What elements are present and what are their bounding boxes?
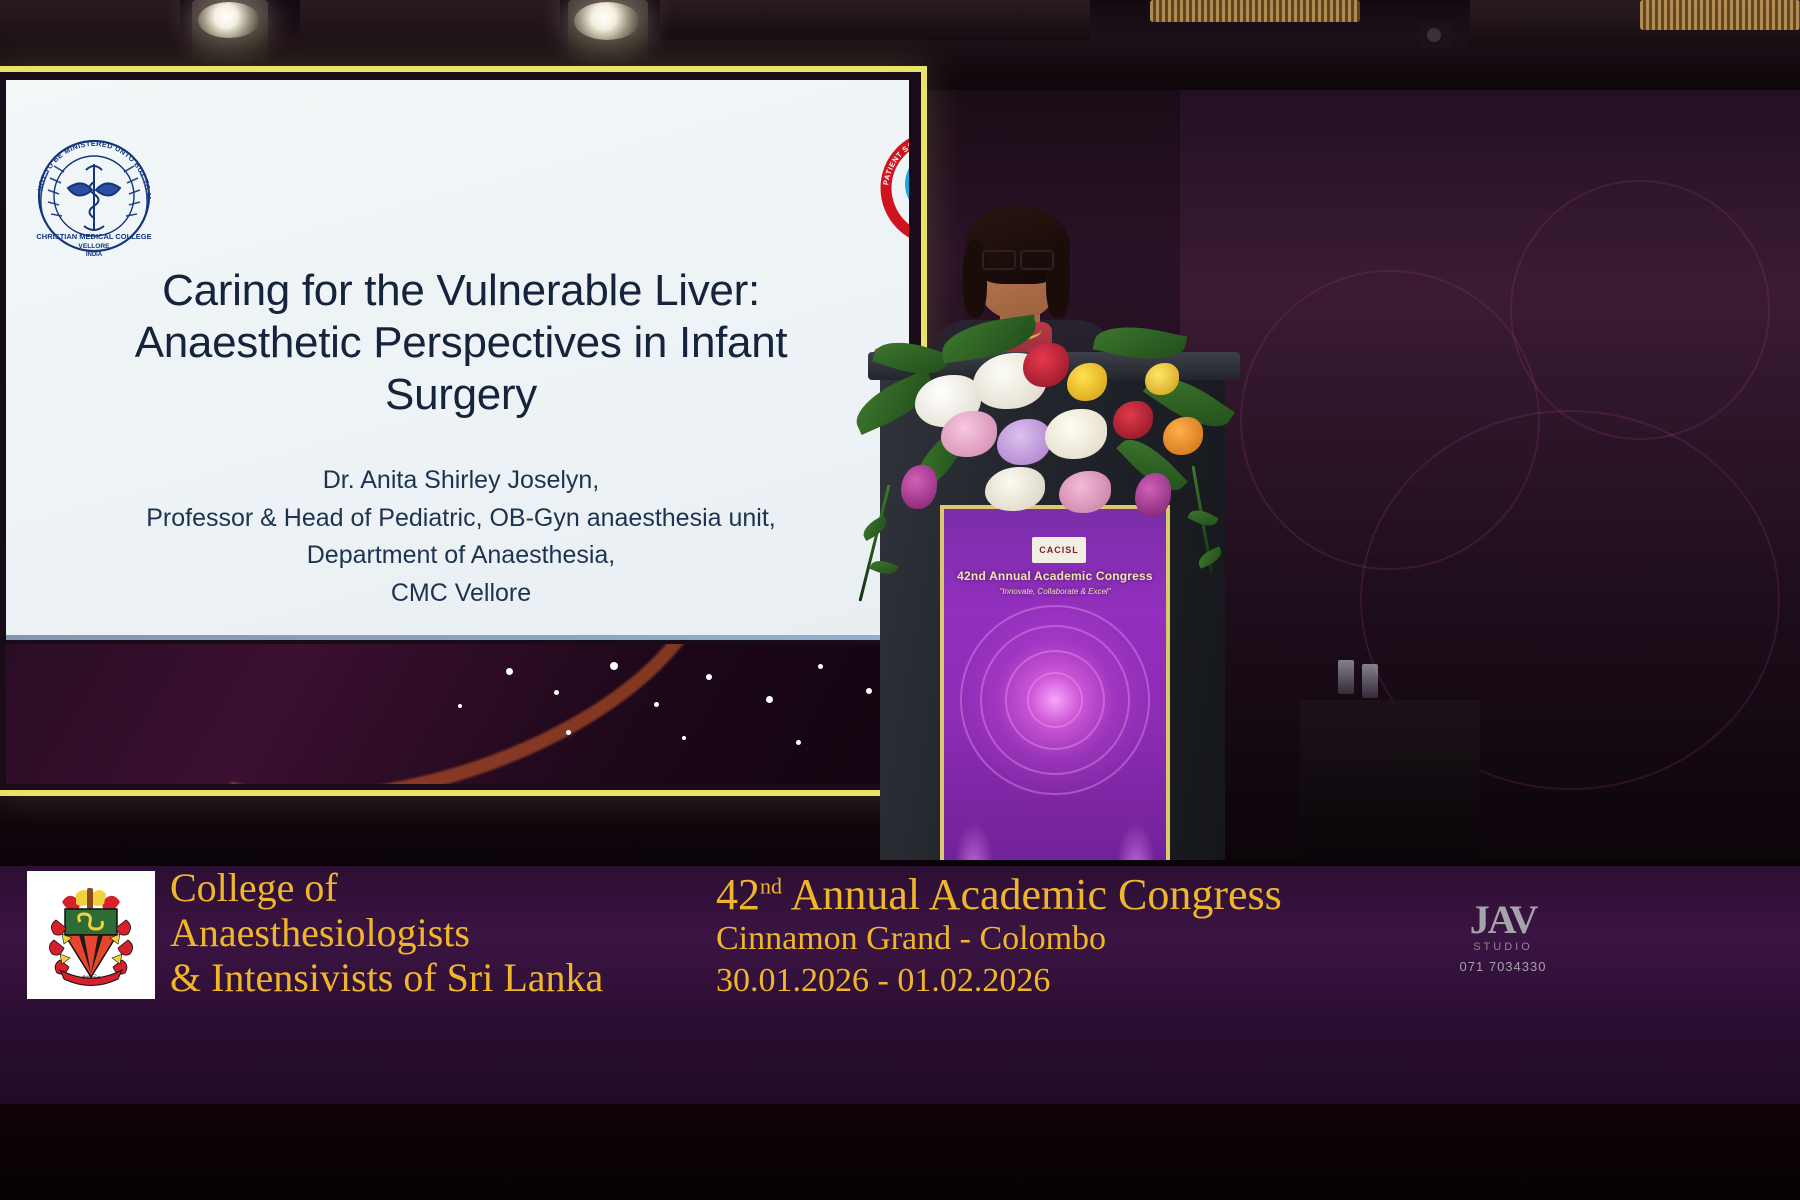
photographer-watermark: JAV STUDIO 071 7034330 (1438, 900, 1568, 996)
water-glass-1 (1338, 660, 1354, 694)
flower-yellow (1067, 363, 1107, 401)
congress-number: 42 (716, 870, 760, 919)
speaker-name: Dr. Anita Shirley Joselyn, (46, 462, 876, 500)
svg-text:★ ACCREDITED ★: ★ ACCREDITED ★ (907, 226, 909, 234)
ceiling-beam-right (660, 0, 1090, 40)
conference-stage-photo: NOT TO BE MINISTERED UNTO BUT TO MINISTE… (0, 0, 1800, 1200)
flower-red-rose (1023, 343, 1069, 387)
ceiling-beam-mid (300, 0, 560, 58)
organisation-line-3: & Intensivists of Sri Lanka (170, 956, 690, 1001)
flower-arrangement (845, 315, 1255, 595)
slide-speaker-block: Dr. Anita Shirley Joselyn, Professor & H… (46, 462, 876, 612)
caisl-coat-of-arms: සෞඛ්‍ය (27, 871, 155, 999)
flower-pink (1059, 471, 1111, 513)
watermark-studio-label: STUDIO (1438, 941, 1568, 953)
svg-text:සෞඛ්‍ය: සෞඛ්‍ය (82, 974, 100, 981)
speaker-institution: CMC Vellore (46, 575, 876, 613)
congress-dates: 30.01.2026 - 01.02.2026 (716, 960, 1356, 1001)
flower-white (1045, 409, 1107, 459)
watermark-phone: 071 7034330 (1438, 959, 1568, 974)
slide-title: Caring for the Vulnerable Liver: Anaesth… (46, 265, 876, 421)
star (566, 730, 571, 735)
ceiling-beam-left (0, 0, 180, 58)
star (706, 674, 712, 680)
stage-floor (0, 1104, 1800, 1200)
congress-title: 42nd Annual Academic Congress (716, 872, 1356, 918)
slide-title-line-2: Anaesthetic Perspectives in Infant (46, 317, 876, 369)
speaker-department: Department of Anaesthesia, (46, 537, 876, 575)
flower-magenta (901, 465, 937, 509)
flower-white (985, 467, 1045, 511)
flower-magenta (1135, 473, 1171, 517)
hall-right-wall (1180, 90, 1800, 890)
mandala-ring-4 (1027, 672, 1083, 728)
decor-swoosh (94, 644, 757, 784)
flower-orange (1163, 417, 1203, 455)
star (610, 662, 618, 670)
star (654, 702, 659, 707)
svg-text:CHRISTIAN MEDICAL COLLEGE: CHRISTIAN MEDICAL COLLEGE (36, 232, 151, 241)
organisation-name: College of Anaesthesiologists & Intensiv… (170, 866, 690, 1000)
water-glass-2 (1362, 664, 1378, 698)
decor-swirl-3 (1510, 180, 1770, 440)
flower-lilac (997, 419, 1051, 465)
trailing-vine-left (859, 484, 891, 601)
organisation-line-1: College of (170, 866, 690, 911)
congress-venue: Cinnamon Grand - Colombo (716, 918, 1356, 959)
star (458, 704, 462, 708)
slide-title-line-1: Caring for the Vulnerable Liver: (46, 265, 876, 317)
star (554, 690, 559, 695)
chandelier-right (1150, 0, 1360, 22)
slide-title-line-3: Surgery (46, 369, 876, 421)
svg-text:VELLORE: VELLORE (78, 243, 110, 250)
screen-inner: NOT TO BE MINISTERED UNTO BUT TO MINISTE… (0, 72, 921, 790)
projection-screen: NOT TO BE MINISTERED UNTO BUT TO MINISTE… (0, 66, 927, 796)
star (866, 688, 872, 694)
ceiling-camera-icon (1418, 22, 1454, 48)
nabh-accredited-logo: PATIENT SAFETY & QUALITY OF CARE NABH ★ … (868, 116, 909, 256)
watermark-logo: JAV (1438, 900, 1568, 940)
side-table (1300, 700, 1480, 860)
star (818, 664, 823, 669)
congress-ordinal: nd (760, 873, 782, 898)
chandelier-far-right (1640, 0, 1800, 30)
spotlight-2 (574, 2, 640, 40)
star (796, 740, 801, 745)
star (506, 668, 513, 675)
vine-leaf (870, 557, 899, 579)
presentation-slide: NOT TO BE MINISTERED UNTO BUT TO MINISTE… (6, 80, 909, 640)
spotlight-1 (198, 2, 260, 38)
christian-medical-college-vellore-logo: NOT TO BE MINISTERED UNTO BUT TO MINISTE… (24, 126, 164, 266)
slide-accent-bar (6, 635, 909, 640)
svg-text:PATIENT SAFETY & QUALITY OF CA: PATIENT SAFETY & QUALITY OF CARE (868, 116, 909, 191)
leaf (1093, 318, 1188, 368)
flower-red-rose (1113, 401, 1153, 439)
screen-lower-decor-band (6, 644, 909, 784)
flower-pink (941, 411, 997, 457)
star (766, 696, 773, 703)
speaker-glasses (982, 250, 1054, 266)
svg-text:INDIA: INDIA (86, 252, 103, 258)
speaker-role: Professor & Head of Pediatric, OB-Gyn an… (46, 500, 876, 538)
congress-title-rest: Annual Academic Congress (782, 870, 1282, 919)
star (682, 736, 686, 740)
congress-details: 42nd Annual Academic Congress Cinnamon G… (716, 872, 1356, 1001)
organisation-line-2: Anaesthesiologists (170, 911, 690, 956)
